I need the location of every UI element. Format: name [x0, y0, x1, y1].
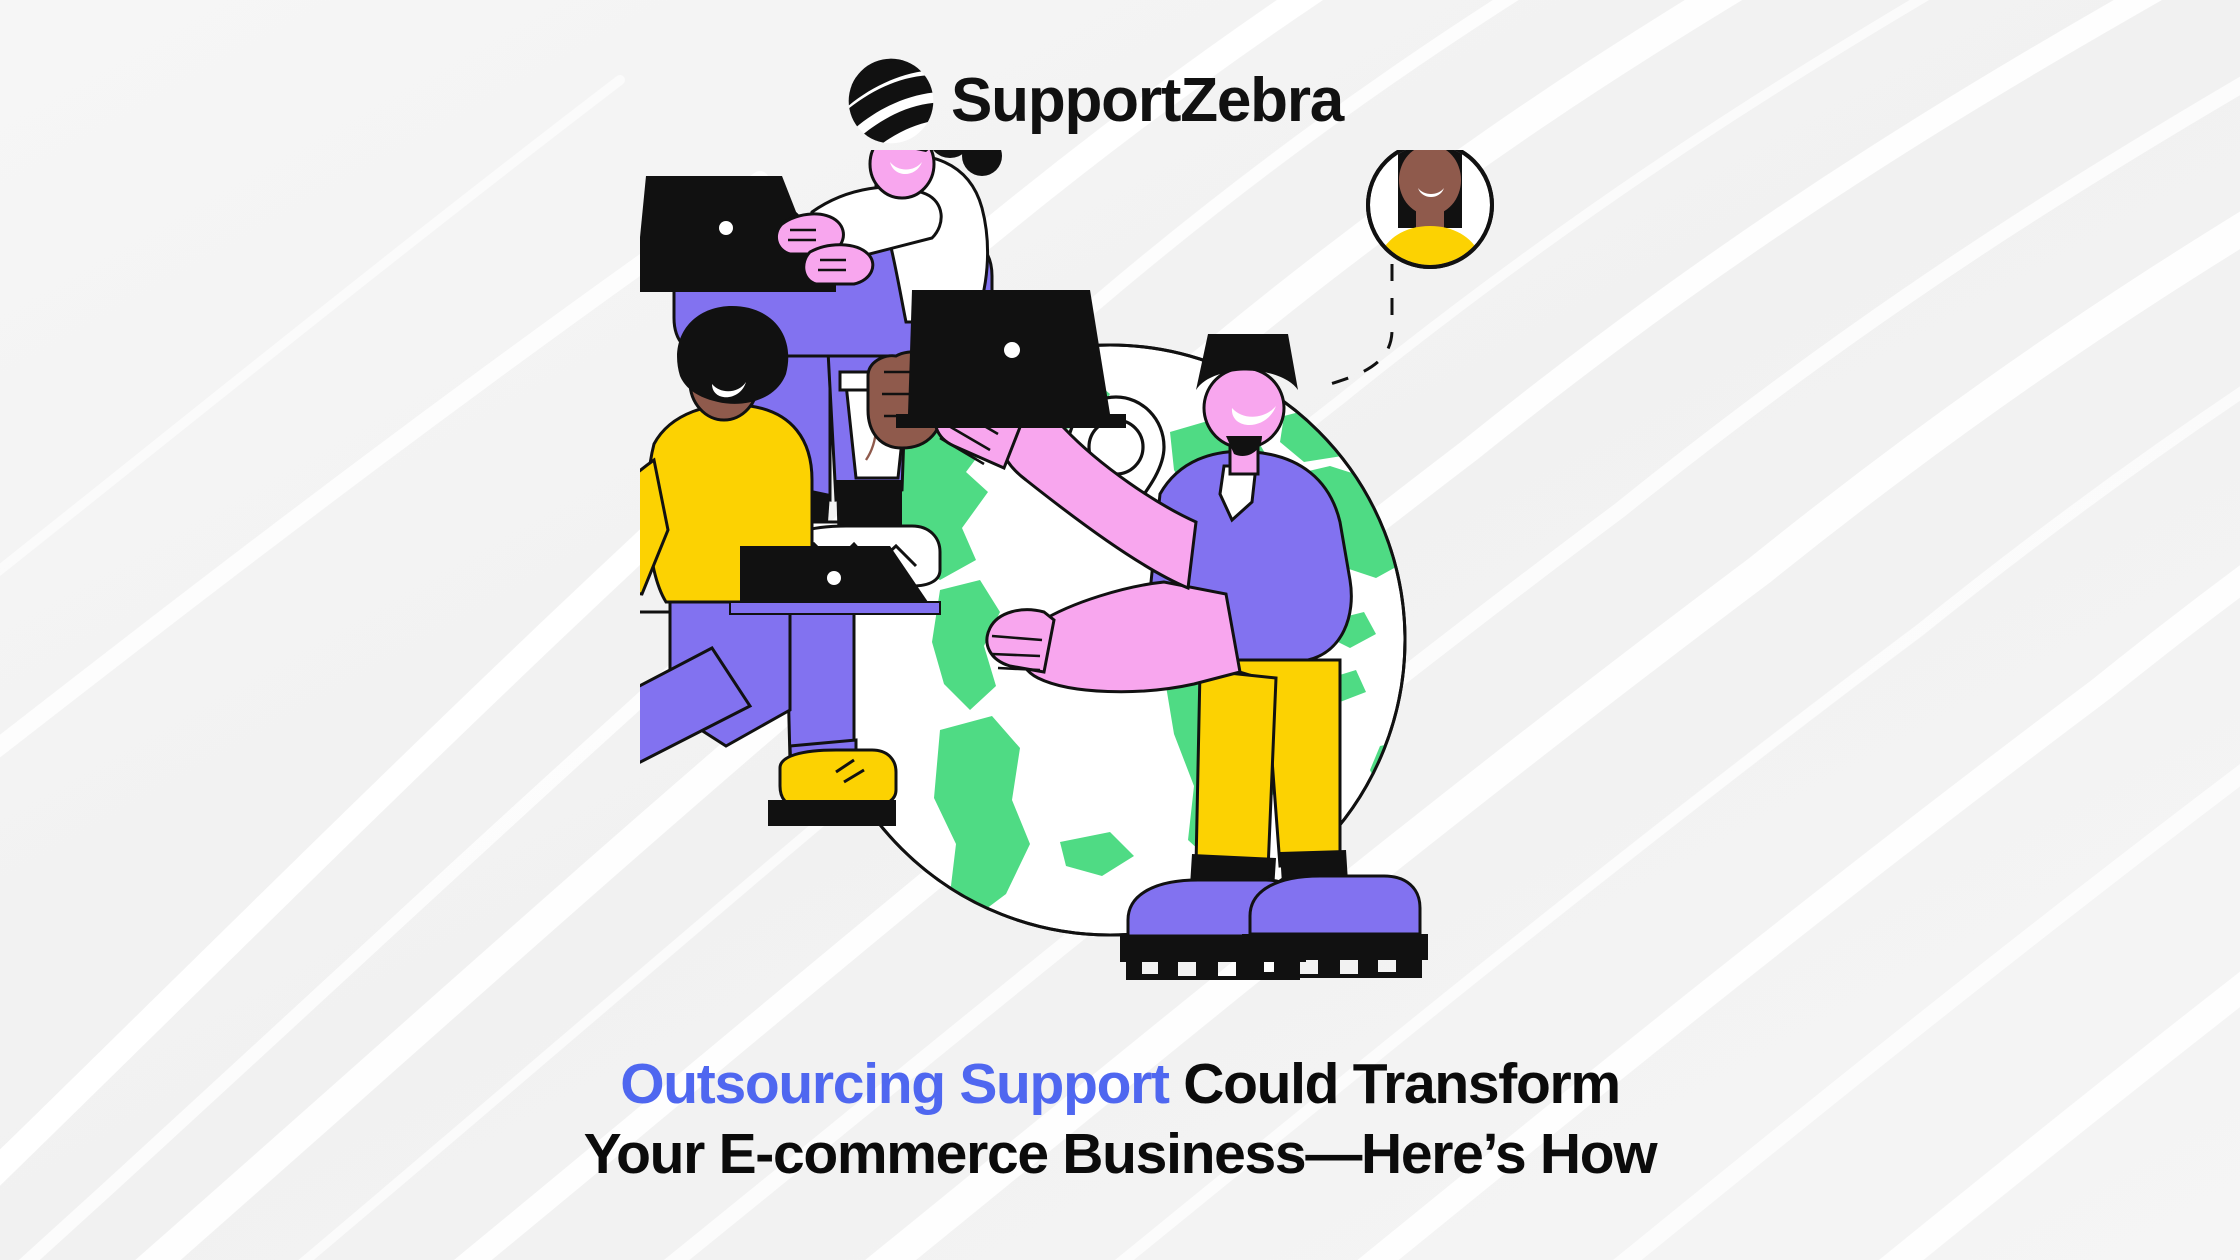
headline-line-1-rest: Could Transform	[1169, 1052, 1620, 1116]
headline: Outsourcing Support Could Transform Your…	[0, 1050, 2240, 1189]
headline-line-2: Your E-commerce Business—Here’s How	[0, 1120, 2240, 1190]
zebra-striped-globe-logo-icon	[845, 55, 937, 147]
headline-line-1: Outsourcing Support Could Transform	[0, 1050, 2240, 1120]
avatar-bubble-right	[1368, 150, 1492, 290]
marketing-banner: SupportZebra	[0, 0, 2240, 1260]
brand-logo[interactable]: SupportZebra	[845, 55, 1343, 147]
headline-accent: Outsourcing Support	[620, 1052, 1168, 1116]
logo-wordmark: SupportZebra	[951, 70, 1343, 132]
global-remote-support-team-illustration	[640, 150, 1560, 1050]
connector-right	[1324, 264, 1392, 386]
